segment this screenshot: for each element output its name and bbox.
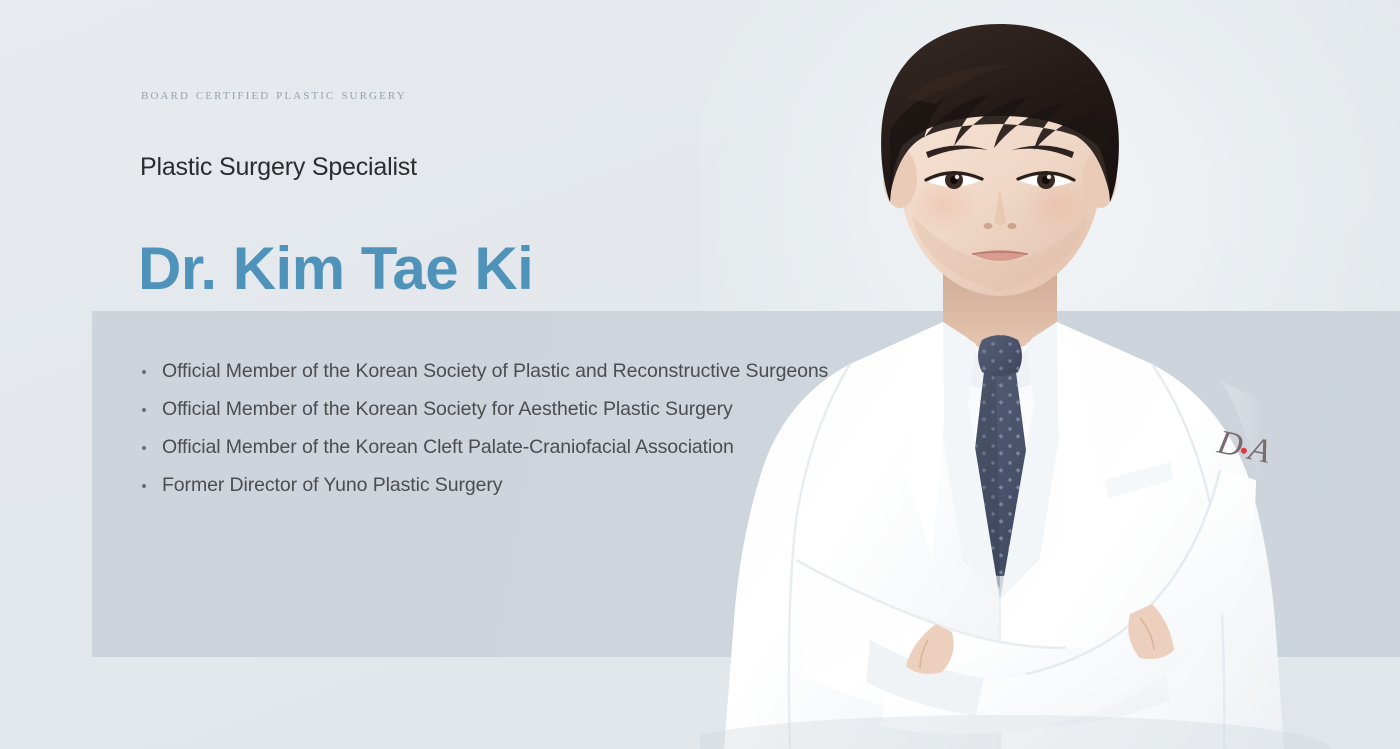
eyebrows <box>926 145 1074 158</box>
page-title: Dr. Kim Tae Ki <box>138 236 533 302</box>
list-item: Official Member of the Korean Society of… <box>138 358 828 385</box>
hair <box>881 24 1119 202</box>
nose <box>984 188 1017 229</box>
eyes <box>926 171 1074 189</box>
list-item: Official Member of the Korean Cleft Pala… <box>138 434 828 461</box>
credential-label: Official Member of the Korean Society fo… <box>162 398 733 420</box>
face <box>883 40 1117 296</box>
subtitle-text: Plastic Surgery Specialist <box>140 153 417 182</box>
eyebrow-text: Board Certified Plastic Surgery <box>141 87 407 104</box>
mouth <box>972 250 1028 261</box>
list-item: Official Member of the Korean Society fo… <box>138 396 828 423</box>
bullet-icon <box>142 408 146 412</box>
credential-label: Official Member of the Korean Cleft Pala… <box>162 436 734 458</box>
credential-label: Former Director of Yuno Plastic Surgery <box>162 474 502 496</box>
bullet-icon <box>142 484 146 488</box>
bullet-icon <box>142 446 146 450</box>
bullet-icon <box>142 370 146 374</box>
credential-label: Official Member of the Korean Society of… <box>162 360 828 382</box>
list-item: Former Director of Yuno Plastic Surgery <box>138 472 828 499</box>
credentials-list: Official Member of the Korean Society of… <box>138 358 828 510</box>
doctor-profile-hero: Board Certified Plastic Surgery Plastic … <box>0 0 1400 749</box>
